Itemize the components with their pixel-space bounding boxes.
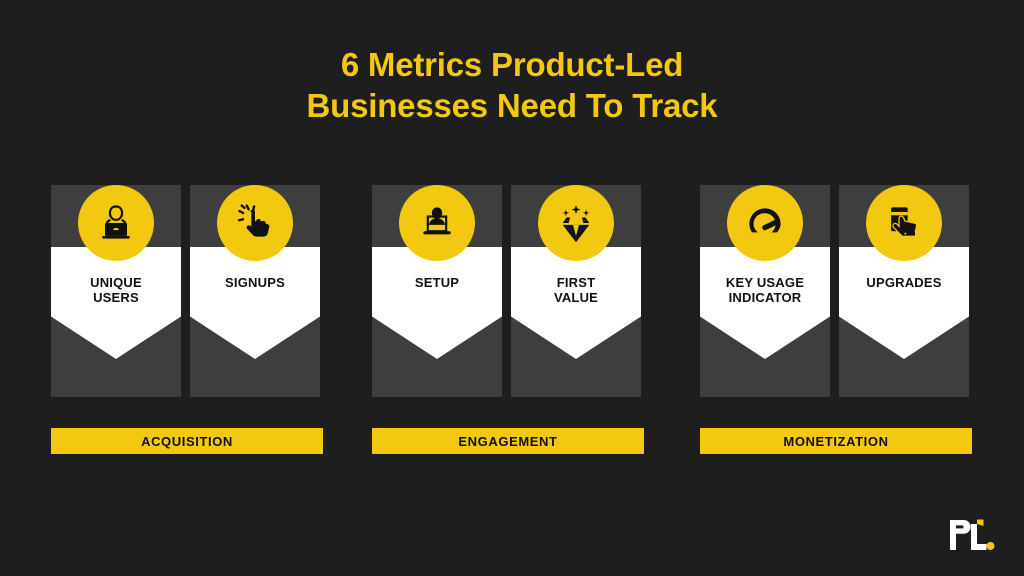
title-line-2: Businesses Need To Track [0, 85, 1024, 126]
metric-card-upgrades[interactable]: UPGRADES [839, 185, 969, 397]
group-cards: UNIQUE USERS [51, 185, 320, 397]
category-banner-acquisition: ACQUISITION [51, 428, 323, 454]
metric-card-key-usage-indicator[interactable]: KEY USAGE INDICATOR [700, 185, 830, 397]
metric-label: FIRST VALUE [511, 275, 641, 306]
banner-label: MONETIZATION [783, 434, 888, 449]
metric-card-signups[interactable]: SIGNUPS [190, 185, 320, 397]
metric-card-first-value[interactable]: FIRST VALUE [511, 185, 641, 397]
metric-card-setup[interactable]: SETUP [372, 185, 502, 397]
metric-label: KEY USAGE INDICATOR [700, 275, 830, 306]
category-banner-engagement: ENGAGEMENT [372, 428, 644, 454]
metric-label: SIGNUPS [190, 275, 320, 290]
click-hand-icon [217, 185, 293, 261]
pl-monogram-logo [940, 514, 998, 556]
infographic-canvas: 6 Metrics Product-Led Businesses Need To… [0, 0, 1024, 576]
metric-card-unique-users[interactable]: UNIQUE USERS [51, 185, 181, 397]
metric-label: UNIQUE USERS [51, 275, 181, 306]
group-engagement: SETUP FIRST VALUE [372, 185, 641, 397]
diamond-sparkle-icon [538, 185, 614, 261]
card-flap [190, 247, 320, 359]
title-line-1: 6 Metrics Product-Led [0, 44, 1024, 85]
card-flap [839, 247, 969, 359]
group-cards: SETUP FIRST VALUE [372, 185, 641, 397]
metric-label: UPGRADES [839, 275, 969, 290]
metric-label: SETUP [372, 275, 502, 290]
card-flap [372, 247, 502, 359]
banner-label: ACQUISITION [141, 434, 233, 449]
banner-label: ENGAGEMENT [458, 434, 557, 449]
person-laptop-icon [78, 185, 154, 261]
group-acquisition: UNIQUE USERS [51, 185, 320, 397]
category-banner-monetization: MONETIZATION [700, 428, 972, 454]
hand-credit-card-icon [866, 185, 942, 261]
laptop-user-icon [399, 185, 475, 261]
page-title: 6 Metrics Product-Led Businesses Need To… [0, 44, 1024, 127]
speedometer-icon [727, 185, 803, 261]
group-monetization: KEY USAGE INDICATOR UPGRADES [700, 185, 969, 397]
group-cards: KEY USAGE INDICATOR UPGRADES [700, 185, 969, 397]
